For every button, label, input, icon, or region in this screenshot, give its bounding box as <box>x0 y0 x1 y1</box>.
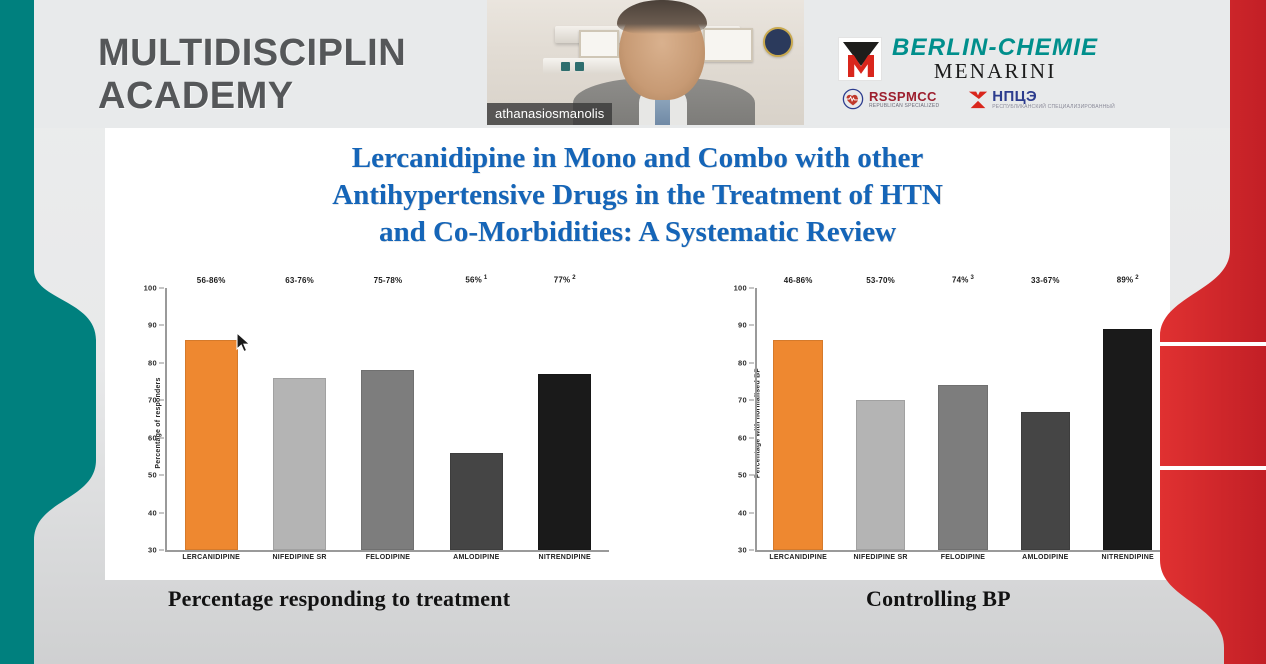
bar-column: 46-86% <box>773 288 822 550</box>
y-axis-tick-mark <box>159 325 164 326</box>
slide-title-line2: Antihypertensive Drugs in the Treatment … <box>168 177 1108 214</box>
x-axis-category-label: NITRENDIPINE <box>1087 554 1169 561</box>
bar-series: 56-86%63-76%75-78%56% 177% 2 <box>167 288 609 550</box>
y-axis-tick-mark <box>749 437 754 438</box>
x-axis-category-label: FELODIPINE <box>344 554 432 561</box>
bar-value-label: 46-86% <box>784 276 813 285</box>
bar: 89% 2 <box>1103 329 1152 550</box>
x-axis-category-label: AMLODIPINE <box>1004 554 1086 561</box>
bar-value-label: 33-67% <box>1031 276 1060 285</box>
bar-label-footnote: 3 <box>969 275 974 281</box>
y-axis-tick-mark <box>749 512 754 513</box>
berlin-chemie-logo: BERLIN-CHEMIE MENARINI <box>838 36 1158 82</box>
x-axis-category-label: NIFEDIPINE SR <box>839 554 921 561</box>
y-axis-tick-label: 40 <box>148 508 157 517</box>
bar-value-label: 56-86% <box>197 276 226 285</box>
partner-subtitle-0: REPUBLICAN SPECIALIZED <box>869 104 939 109</box>
y-axis-tick-label: 80 <box>148 358 157 367</box>
bar: 56% 1 <box>450 453 503 550</box>
brand-title-line2: ACADEMY <box>98 75 406 118</box>
slide-title-line1: Lercanidipine in Mono and Combo with oth… <box>168 140 1108 177</box>
wall-socket-icon <box>575 62 584 71</box>
x-axis-category-label: FELODIPINE <box>922 554 1004 561</box>
partner-logo-rsspmcc: RSSPMCC REPUBLICAN SPECIALIZED <box>842 88 939 110</box>
bar-column: 56% 1 <box>450 288 503 550</box>
y-axis-tick-mark <box>749 550 754 551</box>
participant-video-tile[interactable]: athanasiosmanolis <box>487 0 804 125</box>
bar-column: 56-86% <box>185 288 238 550</box>
heart-ribbon-icon <box>965 88 987 110</box>
x-axis-line <box>165 550 609 552</box>
bar-column: 33-67% <box>1021 288 1070 550</box>
heart-circle-icon <box>842 88 864 110</box>
bar-column: 89% 2 <box>1103 288 1152 550</box>
y-axis-tick-label: 60 <box>738 433 747 442</box>
y-axis-tick-mark <box>749 400 754 401</box>
y-axis-tick-mark <box>159 400 164 401</box>
bar-column: 63-76% <box>273 288 326 550</box>
y-axis-tick-label: 80 <box>738 358 747 367</box>
slide-content-card: Lercanidipine in Mono and Combo with oth… <box>105 128 1170 580</box>
x-axis-category-label: NIFEDIPINE SR <box>255 554 343 561</box>
chart-captions: Percentage responding to treatment Contr… <box>0 586 1266 656</box>
y-axis-tick-label: 90 <box>148 321 157 330</box>
y-axis-tick-mark <box>749 475 754 476</box>
charts-container: Percentage of responders1009080706050403… <box>105 288 1170 578</box>
bar-value-label: 89% 2 <box>1117 275 1139 285</box>
y-axis-tick-label: 30 <box>738 546 747 555</box>
y-axis-tick-mark <box>159 288 164 289</box>
plot-area: Percentage of responders1009080706050403… <box>115 288 615 558</box>
y-axis-tick-label: 50 <box>738 471 747 480</box>
brand-title: MULTIDISCIPLIN ACADEMY <box>98 32 406 117</box>
partner-logos: RSSPMCC REPUBLICAN SPECIALIZED НПЦЭ РЕСП… <box>838 88 1158 110</box>
bar-value-label: 75-78% <box>374 276 403 285</box>
y-axis-tick-mark <box>749 325 754 326</box>
y-axis-tick-mark <box>749 288 754 289</box>
bar-value-label: 74% 3 <box>952 275 974 285</box>
x-axis-category-label: LERCANIDIPINE <box>167 554 255 561</box>
bar: 46-86% <box>773 340 822 550</box>
wall-frame-icon <box>579 30 619 58</box>
x-axis-category-label: NITRENDIPINE <box>521 554 609 561</box>
y-axis-tick-label: 30 <box>148 546 157 555</box>
y-axis-tick-label: 60 <box>148 433 157 442</box>
bar-value-label: 56% 1 <box>465 275 487 285</box>
caption-left: Percentage responding to treatment <box>168 586 510 612</box>
x-axis-category-label: LERCANIDIPINE <box>757 554 839 561</box>
x-axis-categories: LERCANIDIPINENIFEDIPINE SRFELODIPINEAMLO… <box>757 554 1169 561</box>
bar: 77% 2 <box>538 374 591 550</box>
berlin-chemie-mark-icon <box>838 37 882 81</box>
presentation-slide: MULTIDISCIPLIN ACADEMY BERLIN-CHEMIE MEN… <box>0 0 1266 664</box>
bar-column: 74% 3 <box>938 288 987 550</box>
mouse-cursor <box>236 332 252 354</box>
y-axis-tick-mark <box>159 512 164 513</box>
partner-logo-npce: НПЦЭ РЕСПУБЛИКАНСКИЙ СПЕЦИАЛИЗИРОВАННЫЙ <box>965 88 1115 110</box>
partner-subtitle-1: РЕСПУБЛИКАНСКИЙ СПЕЦИАЛИЗИРОВАННЫЙ <box>992 105 1115 110</box>
bar-value-label: 77% 2 <box>554 275 576 285</box>
sponsor-name-line1: BERLIN-CHEMIE <box>892 36 1098 60</box>
y-axis-tick-label: 40 <box>738 508 747 517</box>
sponsor-name-line2: MENARINI <box>892 61 1098 82</box>
y-axis-tick-label: 100 <box>144 284 157 293</box>
speaker-tie <box>655 96 670 125</box>
wall-plaque-icon <box>763 27 793 57</box>
bar-column: 77% 2 <box>538 288 591 550</box>
plot-area: Percentage with normalised BP10090807060… <box>705 288 1175 558</box>
bar-chart-responders: Percentage of responders1009080706050403… <box>115 288 615 574</box>
bar-value-label: 53-70% <box>866 276 895 285</box>
bar-label-footnote: 2 <box>1133 275 1138 281</box>
x-axis-category-label: AMLODIPINE <box>432 554 520 561</box>
y-axis-tick-mark <box>159 550 164 551</box>
brand-title-line1: MULTIDISCIPLIN <box>98 32 406 74</box>
wall-socket-icon <box>561 62 570 71</box>
bar-label-footnote: 1 <box>482 275 487 281</box>
y-axis-tick-mark <box>159 437 164 438</box>
bar-column: 53-70% <box>856 288 905 550</box>
bar: 56-86% <box>185 340 238 550</box>
y-axis-tick-mark <box>159 475 164 476</box>
slide-title-line3: and Co-Morbidities: A Systematic Review <box>168 214 1108 251</box>
bar: 53-70% <box>856 400 905 550</box>
slide-title: Lercanidipine in Mono and Combo with oth… <box>168 140 1108 251</box>
y-axis-tick-label: 70 <box>148 396 157 405</box>
y-axis-tick-label: 50 <box>148 471 157 480</box>
bar: 75-78% <box>361 370 414 550</box>
caption-right: Controlling BP <box>866 586 1011 612</box>
y-axis-tick-label: 100 <box>734 284 747 293</box>
y-axis-ticks: 10090807060504030 <box>137 288 165 550</box>
y-axis-tick-label: 90 <box>738 321 747 330</box>
wall-certificate-icon <box>703 28 753 62</box>
y-axis-tick-label: 70 <box>738 396 747 405</box>
x-axis-categories: LERCANIDIPINENIFEDIPINE SRFELODIPINEAMLO… <box>167 554 609 561</box>
bar: 74% 3 <box>938 385 987 550</box>
partner-name-1: НПЦЭ <box>992 89 1115 104</box>
y-axis-ticks: 10090807060504030 <box>727 288 755 550</box>
participant-name-label: athanasiosmanolis <box>487 103 612 125</box>
y-axis-tick-mark <box>749 362 754 363</box>
sponsor-logo-block: BERLIN-CHEMIE MENARINI RSSPMCC REPUBLICA… <box>838 36 1158 128</box>
bar-chart-normalised-bp: Percentage with normalised BP10090807060… <box>705 288 1175 574</box>
x-axis-line <box>755 550 1169 552</box>
bar-column: 75-78% <box>361 288 414 550</box>
bar: 33-67% <box>1021 412 1070 550</box>
bar-value-label: 63-76% <box>285 276 314 285</box>
partner-name-0: RSSPMCC <box>869 90 939 103</box>
y-axis-tick-mark <box>159 362 164 363</box>
bar: 63-76% <box>273 378 326 550</box>
bar-series: 46-86%53-70%74% 333-67%89% 2 <box>757 288 1169 550</box>
bar-label-footnote: 2 <box>570 275 575 281</box>
